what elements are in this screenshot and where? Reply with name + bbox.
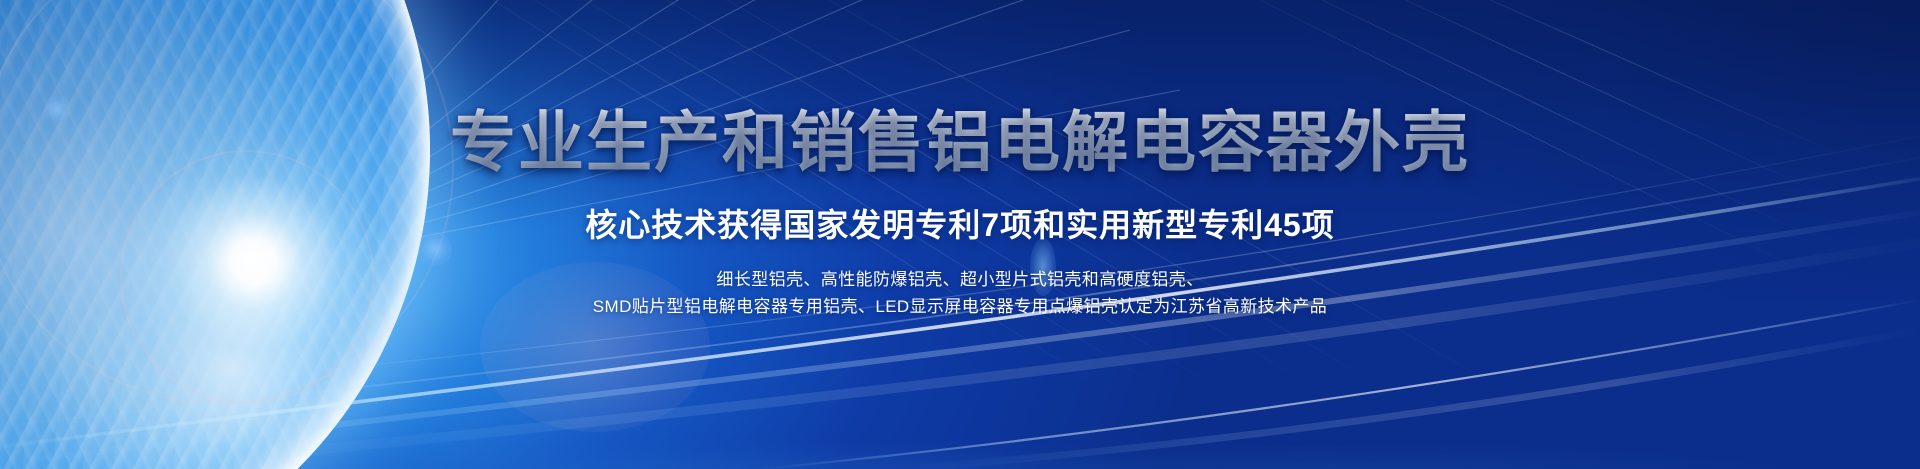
banner-description-line-1: 细长型铝壳、高性能防爆铝壳、超小型片式铝壳和高硬度铝壳、 — [0, 266, 1920, 294]
banner-description: 细长型铝壳、高性能防爆铝壳、超小型片式铝壳和高硬度铝壳、 SMD贴片型铝电解电容… — [0, 266, 1920, 321]
banner-title: 专业生产和销售铝电解电容器外壳 — [0, 0, 1920, 178]
hero-banner: 专业生产和销售铝电解电容器外壳 核心技术获得国家发明专利7项和实用新型专利45项… — [0, 0, 1920, 469]
banner-subtitle: 核心技术获得国家发明专利7项和实用新型专利45项 — [0, 200, 1920, 246]
banner-description-line-2: SMD贴片型铝电解电容器专用铝壳、LED显示屏电容器专用点爆铝壳认定为江苏省高新… — [0, 293, 1920, 321]
banner-content: 专业生产和销售铝电解电容器外壳 核心技术获得国家发明专利7项和实用新型专利45项… — [0, 0, 1920, 321]
